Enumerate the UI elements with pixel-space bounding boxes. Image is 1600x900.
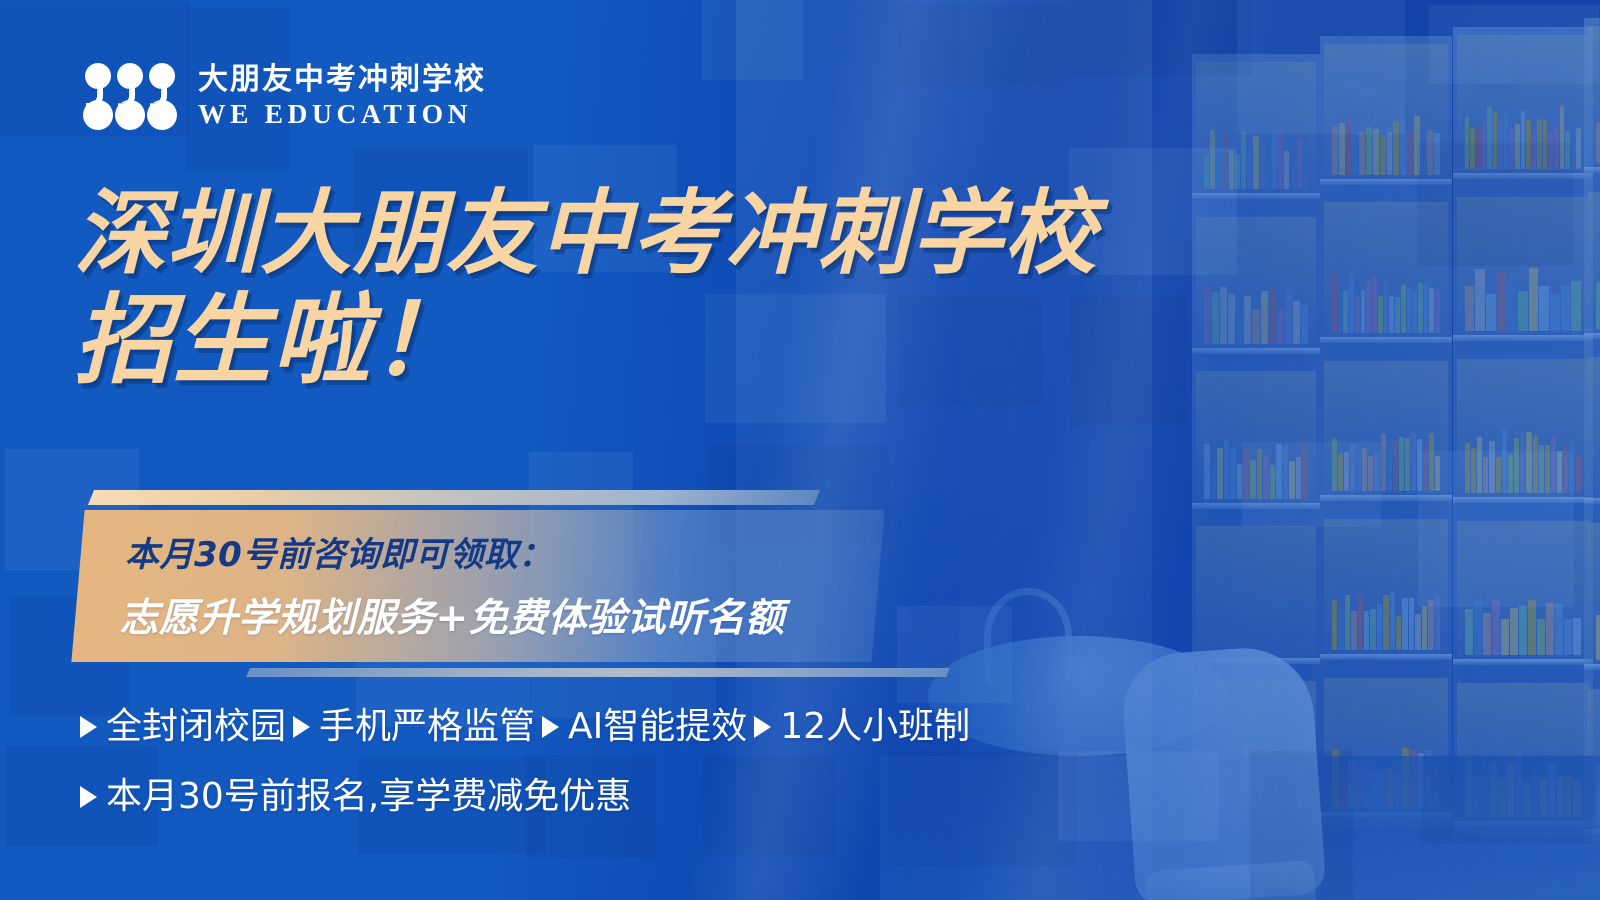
headline: 深圳大朋友中考冲刺学校 招生啦！: [74, 185, 1097, 396]
headline-line-1: 深圳大朋友中考冲刺学校: [74, 185, 1097, 283]
feature-item-label: 手机严格监管: [319, 700, 535, 754]
feature-row-2: 本月30号前报名,享学费减免优惠: [80, 770, 970, 824]
brand-logo-text: 大朋友中考冲刺学校 WE EDUCATION: [198, 65, 486, 128]
feature-item-label: AI智能提效: [568, 700, 747, 754]
promo-accent-bar-bottom: [246, 668, 950, 677]
three-people-logo-icon: [78, 62, 182, 130]
triangle-right-icon: [80, 786, 97, 808]
promo-accent-bar-top: [88, 490, 820, 505]
triangle-right-icon: [293, 716, 310, 738]
feature-item-label: 全封闭校园: [106, 700, 286, 754]
triangle-right-icon: [754, 716, 771, 738]
feature-item-label: 12人小班制: [780, 700, 970, 754]
brand-logo[interactable]: 大朋友中考冲刺学校 WE EDUCATION: [78, 62, 486, 130]
brand-name-en: WE EDUCATION: [198, 101, 492, 128]
promo-poster: 大朋友中考冲刺学校 WE EDUCATION 深圳大朋友中考冲刺学校 招生啦！ …: [0, 0, 1600, 900]
brand-name-cn: 大朋友中考冲刺学校: [198, 65, 486, 95]
triangle-right-icon: [542, 716, 559, 738]
promo-box: 本月30号前咨询即可领取： 志愿升学规划服务+免费体验试听名额: [71, 510, 884, 662]
feature-item: 全封闭校园: [80, 700, 286, 754]
feature-item: 本月30号前报名,享学费减免优惠: [80, 770, 631, 824]
feature-item-label: 本月30号前报名,享学费减免优惠: [106, 770, 631, 824]
feature-item: AI智能提效: [542, 700, 747, 754]
feature-item: 手机严格监管: [293, 700, 535, 754]
feature-item: 12人小班制: [754, 700, 970, 754]
feature-list: 全封闭校园手机严格监管AI智能提效12人小班制 本月30号前报名,享学费减免优惠: [80, 700, 970, 824]
headline-line-2: 招生啦！: [74, 287, 1097, 397]
promo-line-1: 本月30号前咨询即可领取：: [125, 527, 855, 576]
triangle-right-icon: [80, 716, 97, 738]
feature-row-1: 全封闭校园手机严格监管AI智能提效12人小班制: [80, 700, 970, 754]
promo-band: 本月30号前咨询即可领取： 志愿升学规划服务+免费体验试听名额: [78, 490, 958, 677]
promo-line-2: 志愿升学规划服务+免费体验试听名额: [119, 587, 849, 643]
